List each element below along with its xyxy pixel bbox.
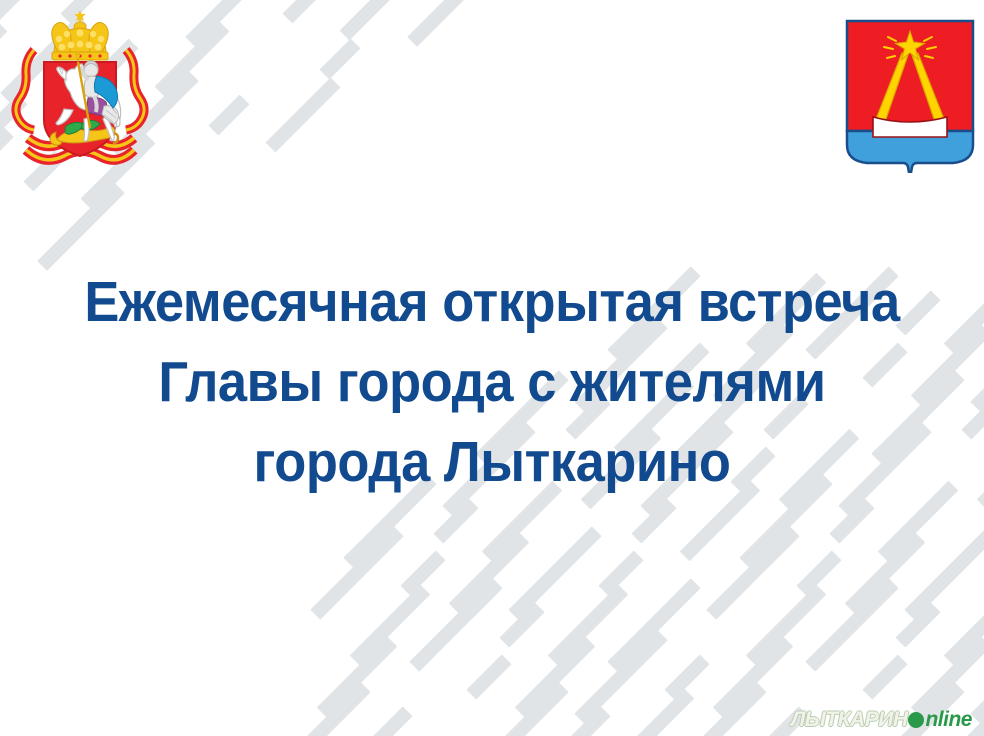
background-dash [319,38,360,79]
background-dash [499,602,544,647]
background-dash [845,533,926,614]
background-dash [574,630,667,723]
background-dash [944,585,984,666]
watermark-text-en: nline [925,709,972,730]
title-line-3: города Лыткарино [39,422,944,502]
background-dash [466,654,511,699]
background-dash [607,578,700,671]
background-dash [433,498,478,543]
background-dash [407,0,495,47]
background-dash [37,183,125,271]
background-dash [310,526,403,619]
background-dash [970,630,984,723]
background-dash [565,706,610,736]
background-dash [895,602,940,647]
background-dash [631,498,676,543]
background-dash [340,0,415,40]
background-dash [664,654,709,699]
background-dash [904,526,984,619]
background-dash [515,637,596,718]
background-dash [350,585,431,666]
watermark-lytkarino-online: ЛЫТКАРИНnline [791,709,972,730]
background-dash [409,578,502,671]
watermark-dot-icon [908,712,924,728]
slide-title: Ежемесячная открытая встреча Главы город… [0,262,984,502]
background-dash [746,585,827,666]
background-dash [862,654,907,699]
presentation-slide: Ежемесячная открытая встреча Главы город… [0,0,984,736]
background-dash [713,637,794,718]
background-dash [911,637,984,718]
background-dash [282,0,323,24]
background-dash [805,578,898,671]
background-dash [829,498,874,543]
background-dash [449,533,530,614]
title-line-2: Главы города с жителями [39,342,944,422]
background-dash [208,94,249,135]
background-dash [266,78,341,153]
background-dash [0,22,7,97]
background-dash [400,550,445,595]
background-dash [185,0,273,47]
background-dash [598,550,643,595]
background-dash [673,682,766,736]
background-dash [796,550,841,595]
background-dash [317,637,398,718]
coat-of-arms-lytkarino-icon [843,17,977,173]
background-dash [475,682,568,736]
background-dash [277,682,370,736]
watermark-text-ru: ЛЫТКАРИН [791,709,908,730]
background-dash [614,689,695,736]
background-dash [548,585,629,666]
title-line-1: Ежемесячная открытая встреча [39,262,944,342]
background-dash [367,706,412,736]
background-dash [706,526,799,619]
background-dash [155,22,230,97]
coat-of-arms-moscow-oblast-icon [10,6,150,184]
background-dash [508,526,601,619]
